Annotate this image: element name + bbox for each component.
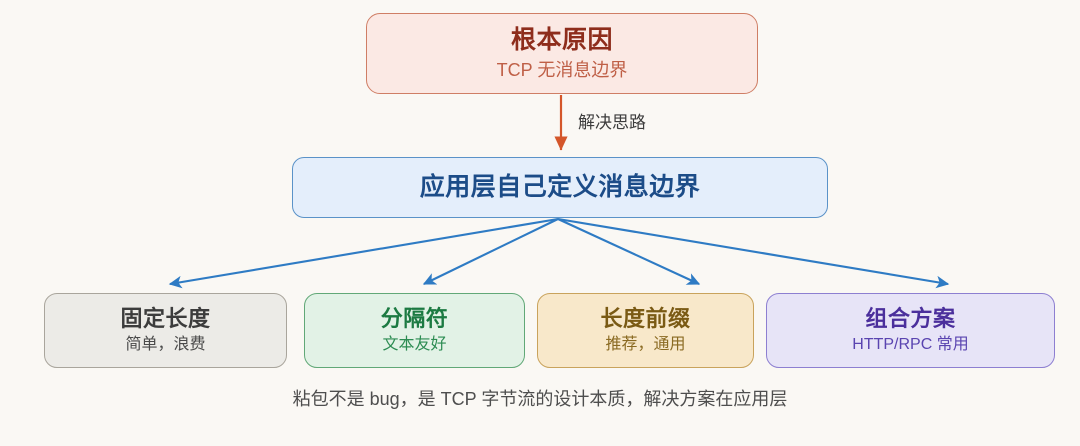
node-combined-approach-subtitle: HTTP/RPC 常用 xyxy=(852,335,968,356)
node-length-prefix: 长度前缀 推荐，通用 xyxy=(537,293,754,368)
node-root-cause-title: 根本原因 xyxy=(511,25,613,56)
node-combined-approach-title: 组合方案 xyxy=(865,305,955,333)
edge-label-solution-approach: 解决思路 xyxy=(578,108,646,133)
edge-solution-to-combined xyxy=(558,219,948,284)
footer-note: 粘包不是 bug，是 TCP 字节流的设计本质，解决方案在应用层 xyxy=(0,385,1080,411)
edge-solution-to-delimiter xyxy=(424,219,558,284)
node-length-prefix-title: 长度前缀 xyxy=(600,305,690,333)
node-root-cause-subtitle: TCP 无消息边界 xyxy=(497,59,628,82)
node-delimiter: 分隔符 文本友好 xyxy=(304,293,525,368)
node-length-prefix-subtitle: 推荐，通用 xyxy=(605,335,685,356)
node-solution-title: 应用层自己定义消息边界 xyxy=(420,172,701,203)
node-delimiter-subtitle: 文本友好 xyxy=(382,335,446,356)
node-fixed-length: 固定长度 简单，浪费 xyxy=(44,293,287,368)
node-combined-approach: 组合方案 HTTP/RPC 常用 xyxy=(766,293,1055,368)
edge-solution-to-length-prefix xyxy=(558,219,699,284)
diagram-canvas: 根本原因 TCP 无消息边界 解决思路 应用层自己定义消息边界 固定长度 简单，… xyxy=(0,0,1080,446)
node-delimiter-title: 分隔符 xyxy=(381,305,449,333)
node-fixed-length-subtitle: 简单，浪费 xyxy=(125,335,205,356)
node-solution: 应用层自己定义消息边界 xyxy=(292,157,828,218)
edge-solution-to-fixed-length xyxy=(170,219,558,284)
node-root-cause: 根本原因 TCP 无消息边界 xyxy=(366,13,758,94)
node-fixed-length-title: 固定长度 xyxy=(120,305,210,333)
